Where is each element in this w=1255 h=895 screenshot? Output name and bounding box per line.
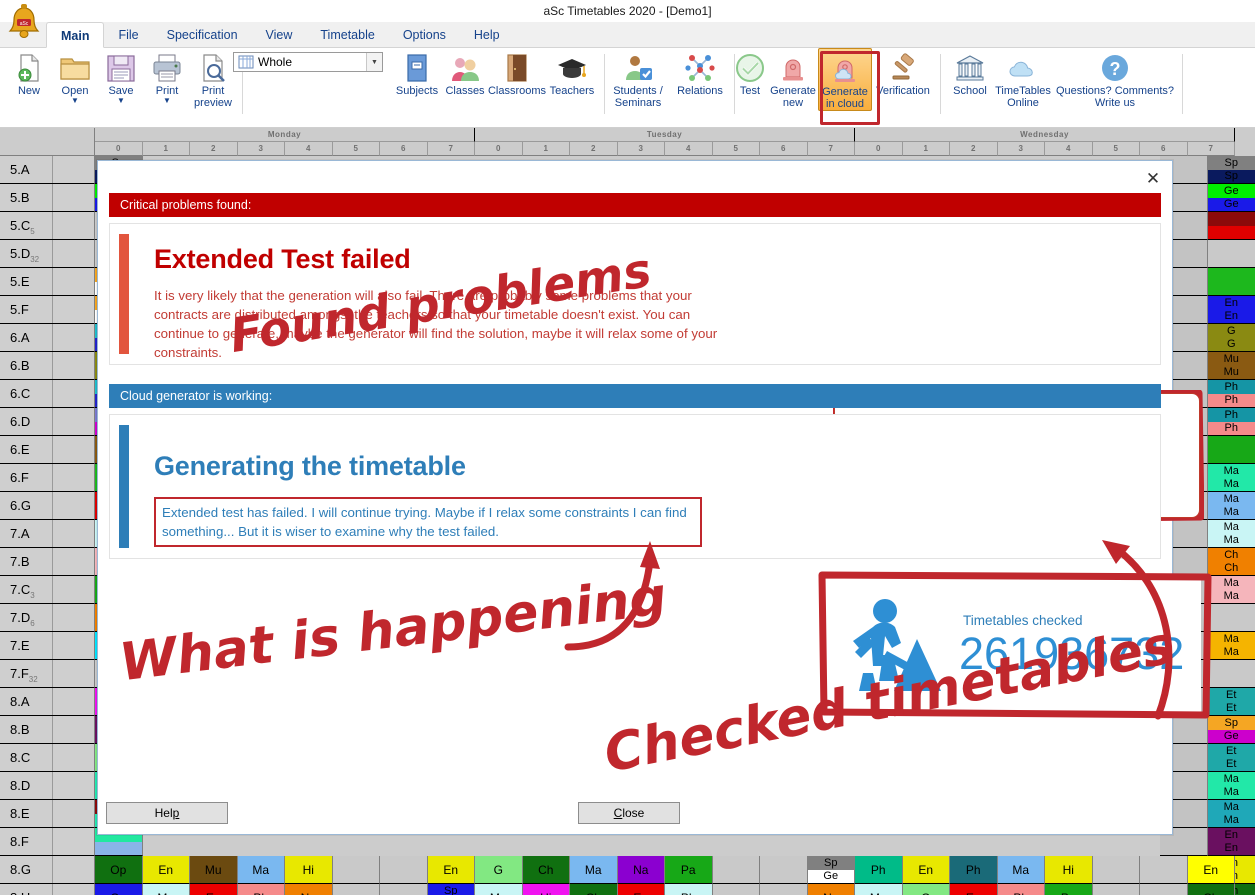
timetable-cell[interactable]: En: [190, 884, 238, 895]
timetable-cell[interactable]: MaMa: [1208, 520, 1255, 548]
ribbon-print-button[interactable]: Print ▼: [144, 48, 190, 104]
row-label-spacer: [52, 380, 94, 407]
close-icon[interactable]: ✕: [1142, 167, 1164, 189]
grid-corner: [0, 128, 95, 156]
save-dropdown-caret-icon[interactable]: ▼: [117, 98, 125, 104]
title-bar: aSc Timetables 2020 - [Demo1]: [0, 0, 1255, 22]
print-preview-icon: [197, 52, 229, 84]
row-label-spacer: [52, 408, 94, 435]
window-title: aSc Timetables 2020 - [Demo1]: [543, 4, 711, 18]
timetable-cell[interactable]: Ch: [570, 884, 618, 895]
timetable-cell[interactable]: [333, 856, 381, 884]
svg-text:aSc: aSc: [20, 21, 29, 27]
row-label-name: 7.B: [10, 554, 30, 569]
cell-bottom: Ma: [1208, 478, 1255, 492]
row-label[interactable]: 7.F32: [0, 660, 95, 688]
ribbon-school-button[interactable]: School: [948, 48, 992, 98]
ribbon-relations-label: Relations: [677, 86, 723, 98]
period-header: 0: [95, 142, 143, 156]
ribbon-generate-in-cloud-button[interactable]: Generate in cloud: [818, 48, 872, 111]
period-header: 6: [1140, 142, 1188, 156]
row-label-name: 7.E: [10, 638, 30, 653]
close-button-mnemonic: C: [614, 806, 623, 820]
timetable-cell[interactable]: Hi: [1045, 856, 1093, 884]
timetable-cell[interactable]: Ph: [855, 856, 903, 884]
timetable-cell[interactable]: EtEt: [1208, 744, 1255, 772]
row-label-name: 7.A: [10, 526, 30, 541]
cell-top: Mu: [1208, 352, 1255, 366]
row-label-spacer: [52, 268, 94, 295]
ribbon-students-seminars-button[interactable]: Students / Seminars: [604, 48, 672, 109]
day-header: Monday: [95, 128, 475, 142]
ribbon-tabs: Main File Specification View Timetable O…: [46, 22, 514, 48]
ribbon-print-preview-label: Print preview: [188, 86, 238, 109]
period-header: 7: [1188, 142, 1236, 156]
timetables-checked-panel: Timetables checked 261936732: [821, 576, 1201, 716]
period-header: 1: [523, 142, 571, 156]
timetable-cell[interactable]: Na: [618, 856, 666, 884]
cell-top: [1208, 240, 1255, 254]
period-header: 0: [475, 142, 523, 156]
ribbon-separator-5: [1182, 54, 1183, 114]
cloud-generation-dialog: ✕ Critical problems found: Extended Test…: [97, 160, 1173, 835]
period-header: 0: [855, 142, 903, 156]
timetable-cell[interactable]: En: [143, 856, 191, 884]
ribbon-verification-label: Verification: [876, 86, 930, 98]
row-label[interactable]: 8.G: [0, 856, 95, 884]
row-label[interactable]: 6.F: [0, 464, 95, 492]
row-label[interactable]: 5.C5: [0, 212, 95, 240]
row-label-name: 5.A: [10, 162, 30, 177]
row-label-spacer: [52, 492, 94, 519]
timetable-cell[interactable]: ChCh: [1208, 548, 1255, 576]
ribbon-classes-button[interactable]: Classes: [442, 48, 488, 98]
row-label-spacer: [52, 800, 94, 827]
timetable-cell[interactable]: Ma: [238, 856, 286, 884]
printer-icon: [151, 52, 183, 84]
period-header: 5: [1093, 142, 1141, 156]
ribbon-toolbar: New Open ▼: [0, 48, 1255, 128]
generating-timetable-title: Generating the timetable: [154, 451, 466, 482]
row-label-spacer: [52, 464, 94, 491]
timetable-cell[interactable]: [760, 856, 808, 884]
tab-specification[interactable]: Specification: [153, 22, 252, 48]
row-label-spacer: [52, 184, 94, 211]
row-label[interactable]: 8.H: [0, 884, 95, 895]
blue-accent-stripe: [119, 425, 129, 548]
row-label[interactable]: 5.A: [0, 156, 95, 184]
ribbon-questions-comments-label: Questions? Comments? Write us: [1053, 86, 1177, 109]
application-window: aSc Timetables 2020 - [Demo1] aSc Main F…: [0, 0, 1255, 895]
period-header: 2: [570, 142, 618, 156]
tab-main[interactable]: Main: [46, 22, 104, 48]
row-label-name: 6.B: [10, 358, 30, 373]
row-label-spacer: [52, 436, 94, 463]
critical-problems-banner: Critical problems found:: [109, 193, 1161, 217]
timetable-cell[interactable]: MaMa: [1208, 800, 1255, 828]
ribbon-classes-label: Classes: [445, 86, 484, 98]
timetable-cell[interactable]: Pa: [665, 856, 713, 884]
row-label-spacer: [52, 604, 94, 631]
timetable-cell[interactable]: Na: [285, 884, 333, 895]
timetable-cell[interactable]: SpGe: [1208, 716, 1255, 744]
row-label-name: 8.G: [10, 862, 31, 877]
timetable-cell[interactable]: MaMa: [1208, 576, 1255, 604]
timetable-cell[interactable]: EtEt: [1208, 688, 1255, 716]
row-label-name: 8.D: [10, 778, 30, 793]
students-icon: [449, 52, 481, 84]
cell-bottom: [1208, 450, 1255, 464]
ribbon-generate-in-cloud-label: Generate in cloud: [818, 87, 872, 110]
timetable-cell[interactable]: Op: [95, 884, 143, 895]
day-header: Tuesday: [475, 128, 855, 142]
cell-top: Ma: [1208, 800, 1255, 814]
tab-help[interactable]: Help: [460, 22, 514, 48]
timetable-cell[interactable]: MuMu: [1208, 352, 1255, 380]
timetable-cell[interactable]: [713, 884, 761, 895]
timetables-checked-label: Timetables checked: [963, 613, 1184, 628]
timetable-cell[interactable]: En: [1188, 856, 1236, 884]
cell-top: [1208, 604, 1255, 618]
row-label[interactable]: 7.B: [0, 548, 95, 576]
cell-top: Ma: [1208, 520, 1255, 534]
siren-cloud-icon: [829, 53, 861, 85]
ribbon-test-button[interactable]: Test: [732, 48, 768, 98]
timetable-cell[interactable]: MaMa: [1208, 464, 1255, 492]
timetable-cell[interactable]: GeGe: [1208, 184, 1255, 212]
cell-top: Ph: [1208, 380, 1255, 394]
timetable-cell[interactable]: MaMa: [1208, 632, 1255, 660]
timetable-cell[interactable]: Hi: [285, 856, 333, 884]
timetable-cell[interactable]: PhPh: [1208, 408, 1255, 436]
row-label-name: 5.D: [10, 246, 30, 261]
timetable-cell[interactable]: MaMa: [1208, 772, 1255, 800]
cell-bottom: Et: [1208, 758, 1255, 772]
floppy-disk-icon: [105, 52, 137, 84]
row-label-name: 7.C: [10, 582, 30, 597]
row-label[interactable]: 8.A: [0, 688, 95, 716]
cell-top: Ma: [1208, 492, 1255, 506]
row-label-name: 8.H: [10, 890, 30, 895]
row-label-spacer: [52, 884, 94, 895]
row-label-spacer: [52, 548, 94, 575]
timetable-cell[interactable]: PhPh: [1208, 380, 1255, 408]
cell-bottom: G: [1208, 338, 1255, 352]
timetable-cell[interactable]: Hi: [523, 884, 571, 895]
ribbon-new-button[interactable]: New: [6, 48, 52, 98]
row-label-name: 6.D: [10, 414, 30, 429]
cell-bottom: [1208, 226, 1255, 240]
row-label-spacer: [52, 744, 94, 771]
timetable-cell[interactable]: GG: [1208, 324, 1255, 352]
row-label[interactable]: 7.D6: [0, 604, 95, 632]
row-label[interactable]: 7.A: [0, 520, 95, 548]
timetable-cell[interactable]: [380, 856, 428, 884]
timetable-cell[interactable]: Ma: [475, 884, 523, 895]
timetable-cell[interactable]: En: [950, 884, 998, 895]
row-label-name: 8.B: [10, 722, 30, 737]
timetable-cell[interactable]: [333, 884, 381, 895]
cloud-generator-banner: Cloud generator is working:: [109, 384, 1161, 408]
ribbon-timetables-online-label: TimeTables Online: [992, 86, 1054, 109]
period-header: 7: [428, 142, 476, 156]
period-header: 3: [998, 142, 1046, 156]
cell-top: Et: [1208, 744, 1255, 758]
timetable-cell[interactable]: [760, 884, 808, 895]
timetable-cell[interactable]: EnEn: [1208, 828, 1255, 856]
ribbon-questions-comments-button[interactable]: ? Questions? Comments? Write us: [1054, 48, 1176, 109]
cell-bottom: Ch: [1208, 562, 1255, 576]
timetable-cell[interactable]: [1208, 268, 1255, 296]
timetable-cell[interactable]: SpGe: [428, 884, 476, 895]
timetable-cell[interactable]: G: [903, 884, 951, 895]
question-mark-icon: ?: [1099, 52, 1131, 84]
period-header: 1: [143, 142, 191, 156]
timetable-cell[interactable]: [713, 856, 761, 884]
graduation-cap-icon: [556, 52, 588, 84]
ribbon-subjects-button[interactable]: Subjects: [392, 48, 442, 98]
timetable-cell[interactable]: Ph: [998, 884, 1046, 895]
timetable-cell[interactable]: [1208, 604, 1255, 632]
period-header: 4: [285, 142, 333, 156]
green-check-badge-icon: [734, 52, 766, 84]
row-label-spacer: [52, 660, 94, 687]
extended-test-failed-title: Extended Test failed: [154, 244, 411, 275]
svg-text:?: ?: [1110, 59, 1121, 79]
timetable-cell[interactable]: Ch: [1188, 884, 1236, 895]
timetable-cell[interactable]: Pa: [1045, 884, 1093, 895]
row-label[interactable]: 6.C: [0, 380, 95, 408]
cell-top: [1208, 660, 1255, 674]
row-label[interactable]: 6.D: [0, 408, 95, 436]
row-label-name: 6.A: [10, 330, 30, 345]
row-label-spacer: [52, 828, 94, 855]
tab-options[interactable]: Options: [389, 22, 460, 48]
cell-top: G: [1208, 324, 1255, 338]
row-label[interactable]: 6.B: [0, 352, 95, 380]
extended-test-failed-body: It is very likely that the generation wi…: [154, 286, 719, 362]
row-label[interactable]: 8.F: [0, 828, 95, 856]
row-label[interactable]: 5.D32: [0, 240, 95, 268]
row-label-spacer: [52, 772, 94, 799]
ribbon-test-label: Test: [740, 86, 760, 98]
cell-top: Ma: [1208, 632, 1255, 646]
row-label-sub: 6: [30, 619, 34, 628]
timetable-cell[interactable]: Ph: [238, 884, 286, 895]
row-label[interactable]: 8.C: [0, 744, 95, 772]
ribbon-save-button[interactable]: Save ▼: [98, 48, 144, 104]
extended-test-failed-panel: Extended Test failed It is very likely t…: [109, 223, 1161, 365]
cell-bottom: [1208, 254, 1255, 268]
row-label[interactable]: 5.B: [0, 184, 95, 212]
ribbon-subjects-label: Subjects: [396, 86, 438, 98]
row-label-sub: 32: [30, 255, 39, 264]
view-scope-value: Whole: [258, 55, 366, 69]
timetable-cell[interactable]: En: [903, 856, 951, 884]
cell-top: Sp: [428, 884, 475, 895]
row-label-name: 5.B: [10, 190, 30, 205]
row-label-spacer: [52, 576, 94, 603]
cell-top: En: [1208, 828, 1255, 842]
row-label-sub: 3: [30, 591, 34, 600]
help-button[interactable]: Help: [106, 802, 228, 824]
period-header: 3: [618, 142, 666, 156]
new-document-icon: [13, 52, 45, 84]
ribbon-generate-new-button[interactable]: Generate new: [768, 48, 818, 109]
ribbon-teachers-button[interactable]: Teachers: [546, 48, 598, 98]
row-label-spacer: [52, 156, 94, 183]
tab-timetable[interactable]: Timetable: [306, 22, 388, 48]
row-label-sub: 5: [30, 227, 34, 236]
timetable-cell[interactable]: En: [618, 884, 666, 895]
row-label-name: 6.E: [10, 442, 30, 457]
row-label[interactable]: 5.F: [0, 296, 95, 324]
row-label-name: 6.C: [10, 386, 30, 401]
cell-bottom: Ph: [1208, 394, 1255, 408]
cell-top: Sp: [1208, 156, 1255, 170]
timetable-cell[interactable]: [1093, 856, 1141, 884]
ribbon-timetables-online-button[interactable]: TimeTables Online: [992, 48, 1054, 109]
timetable-cell[interactable]: En: [428, 856, 476, 884]
period-header: 4: [665, 142, 713, 156]
row-label[interactable]: 8.B: [0, 716, 95, 744]
period-header: 1: [903, 142, 951, 156]
cell-bottom: [95, 842, 142, 856]
cell-top: [1208, 436, 1255, 450]
network-nodes-icon: [684, 52, 716, 84]
row-label-spacer: [52, 520, 94, 547]
row-label[interactable]: 6.G: [0, 492, 95, 520]
ribbon-verification-button[interactable]: Verification: [872, 48, 934, 98]
cell-top: Ph: [1208, 408, 1255, 422]
timetable-cell[interactable]: MaMa: [1208, 492, 1255, 520]
siren-icon: [777, 52, 809, 84]
timetable-cell[interactable]: [380, 884, 428, 895]
cell-bottom: En: [1208, 842, 1255, 856]
ribbon-classrooms-label: Classrooms: [488, 86, 546, 98]
ribbon-classrooms-button[interactable]: Classrooms: [488, 48, 546, 98]
row-label[interactable]: 5.E: [0, 268, 95, 296]
cell-top: Et: [1208, 688, 1255, 702]
timetable-cell[interactable]: [1208, 436, 1255, 464]
row-label[interactable]: 7.C3: [0, 576, 95, 604]
ribbon-generate-new-label: Generate new: [767, 86, 819, 109]
folder-icon: [59, 52, 91, 84]
row-label-spacer: [52, 856, 94, 883]
row-label-name: 6.F: [10, 470, 29, 485]
cell-bottom: Ma: [1208, 814, 1255, 828]
period-header: 2: [950, 142, 998, 156]
timetable-cell[interactable]: Ma: [855, 884, 903, 895]
cell-bottom: Ma: [1208, 534, 1255, 548]
cell-bottom: Ge: [808, 870, 855, 884]
help-button-mnemonic: p: [173, 806, 180, 820]
timetable-cell[interactable]: Ma: [143, 884, 191, 895]
timetable-cell[interactable]: SpSp: [1208, 156, 1255, 184]
cell-top: [1208, 268, 1255, 282]
timetable-cell[interactable]: G: [475, 856, 523, 884]
row-label-spacer: [52, 352, 94, 379]
tab-file[interactable]: File: [104, 22, 152, 48]
period-header: 4: [1045, 142, 1093, 156]
row-label-name: 7.D: [10, 610, 30, 625]
cell-bottom: Ma: [1208, 506, 1255, 520]
timetable-cell[interactable]: [1140, 884, 1188, 895]
cell-bottom: Ge: [1208, 730, 1255, 744]
cell-top: En: [1208, 296, 1255, 310]
timetable-cell[interactable]: [1208, 240, 1255, 268]
timetable-cell[interactable]: [1208, 212, 1255, 240]
timetable-cell[interactable]: Ma: [570, 856, 618, 884]
row-label-name: 8.F: [10, 834, 29, 849]
cell-bottom: [1208, 674, 1255, 688]
timetable-cell[interactable]: [1093, 884, 1141, 895]
close-button-suffix: lose: [622, 806, 644, 820]
timetable-cell[interactable]: Ph: [665, 884, 713, 895]
timetable-cell[interactable]: Ch: [523, 856, 571, 884]
timetable-cell[interactable]: [1208, 660, 1255, 688]
open-dropdown-caret-icon[interactable]: ▼: [71, 98, 79, 104]
timetable-cell[interactable]: Op: [95, 856, 143, 884]
timetable-cell[interactable]: Ma: [998, 856, 1046, 884]
cell-bottom: En: [1208, 310, 1255, 324]
view-scope-dropdown-caret-icon[interactable]: ▼: [366, 53, 382, 71]
row-label-spacer: [52, 716, 94, 743]
timetable-cell[interactable]: SpGe: [808, 856, 856, 884]
timetable-cell[interactable]: Ph: [950, 856, 998, 884]
close-button[interactable]: Close: [578, 802, 680, 824]
view-scope-combobox[interactable]: Whole ▼: [233, 52, 383, 72]
timetable-cell[interactable]: Na: [808, 884, 856, 895]
ribbon-print-preview-button[interactable]: Print preview: [190, 48, 236, 109]
ribbon-tab-strip: Main File Specification View Timetable O…: [0, 22, 1255, 48]
ribbon-new-label: New: [18, 86, 40, 98]
door-icon: [501, 52, 533, 84]
cloud-icon: [1007, 52, 1039, 84]
row-label[interactable]: 8.E: [0, 800, 95, 828]
print-dropdown-caret-icon[interactable]: ▼: [163, 98, 171, 104]
period-header: 3: [238, 142, 286, 156]
row-label-name: 7.F: [10, 666, 29, 681]
row-label[interactable]: 7.E: [0, 632, 95, 660]
cell-top: Sp: [808, 856, 855, 870]
row-label-spacer: [52, 688, 94, 715]
cell-bottom: Ma: [1208, 786, 1255, 800]
generating-timetable-panel: Generating the timetable Extended test h…: [109, 414, 1161, 559]
cell-bottom: Ph: [1208, 422, 1255, 436]
row-label-spacer: [52, 240, 94, 267]
timetable-cell[interactable]: Mu: [190, 856, 238, 884]
timetable-cell[interactable]: EnEn: [1208, 296, 1255, 324]
row-label-sub: 32: [29, 675, 38, 684]
period-header: 5: [713, 142, 761, 156]
ribbon-students-seminars-label: Students / Seminars: [604, 86, 672, 109]
generating-timetable-body: Extended test has failed. I will continu…: [154, 497, 702, 547]
row-label-name: 8.E: [10, 806, 30, 821]
row-label[interactable]: 8.D: [0, 772, 95, 800]
period-header: 6: [760, 142, 808, 156]
cell-bottom: Ge: [1208, 198, 1255, 212]
row-label[interactable]: 6.A: [0, 324, 95, 352]
timetables-checked-value: 261936732: [959, 628, 1184, 680]
row-label[interactable]: 6.E: [0, 436, 95, 464]
ribbon-open-button[interactable]: Open ▼: [52, 48, 98, 104]
tab-view[interactable]: View: [252, 22, 307, 48]
cell-top: Ch: [1208, 548, 1255, 562]
timetable-cell[interactable]: [1140, 856, 1188, 884]
ribbon-relations-button[interactable]: Relations: [672, 48, 728, 98]
day-header: Wednesday: [855, 128, 1235, 142]
